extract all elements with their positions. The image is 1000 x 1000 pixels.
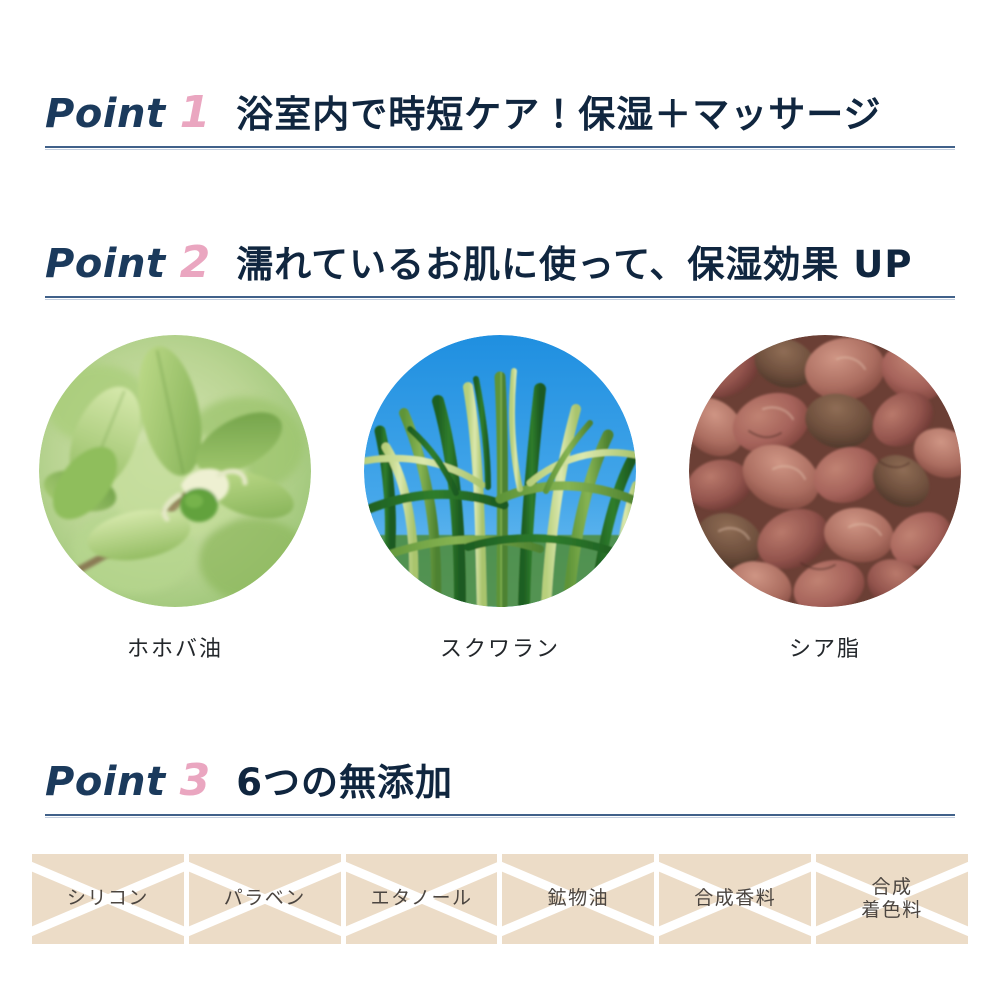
free-from-label-mineral-oil: 鉱物油 xyxy=(548,887,610,910)
ingredient-item-jojoba: ホホバ油 xyxy=(30,335,320,663)
point-text-3: 6つの無添加 xyxy=(236,752,453,806)
free-from-tile-synthetic-fragrance: 合成香料 xyxy=(659,854,811,944)
point-text-2: 濡れているお肌に使って、保湿効果 UP xyxy=(236,234,912,288)
point-divider-1 xyxy=(45,146,955,150)
point-label-2: Point xyxy=(45,241,166,287)
point-block-2: Point 2 濡れているお肌に使って、保湿効果 UP xyxy=(45,234,955,300)
point-heading-3: Point 3 6つの無添加 xyxy=(45,752,955,808)
point-block-3: Point 3 6つの無添加 xyxy=(45,752,955,818)
free-from-tile-silicone: シリコン xyxy=(32,854,184,944)
ingredient-label-shea: シア脂 xyxy=(789,631,861,663)
ingredient-item-shea: シア脂 xyxy=(680,335,970,663)
point-heading-2: Point 2 濡れているお肌に使って、保湿効果 UP xyxy=(45,234,955,290)
sugarcane-field-photo xyxy=(364,335,636,607)
free-from-label-ethanol: エタノール xyxy=(371,887,473,910)
point-number-3: 3 xyxy=(180,755,211,806)
free-from-tile-ethanol: エタノール xyxy=(346,854,498,944)
free-from-label-silicone: シリコン xyxy=(67,887,149,910)
ingredient-item-squalane: スクワラン xyxy=(355,335,645,663)
point-divider-2 xyxy=(45,296,955,300)
point-heading-1: Point 1 浴室内で時短ケア！保湿＋マッサージ xyxy=(45,84,955,140)
point-text-1: 浴室内で時短ケア！保湿＋マッサージ xyxy=(236,84,881,138)
free-from-tile-synthetic-colorant: 合成 着色料 xyxy=(816,854,968,944)
point-block-1: Point 1 浴室内で時短ケア！保湿＋マッサージ xyxy=(45,84,955,150)
ingredient-gallery: ホホバ油 xyxy=(30,335,970,663)
point-label-1: Point xyxy=(45,91,166,137)
free-from-label-synthetic-colorant: 合成 着色料 xyxy=(861,876,923,922)
point-number-1: 1 xyxy=(180,87,211,138)
free-from-label-synthetic-fragrance: 合成香料 xyxy=(694,887,776,910)
free-from-tile-paraben: パラベン xyxy=(189,854,341,944)
free-from-label-paraben: パラベン xyxy=(224,887,306,910)
ingredient-label-squalane: スクワラン xyxy=(440,631,560,663)
product-points-page: Point 1 浴室内で時短ケア！保湿＋マッサージ Point 2 濡れているお… xyxy=(0,0,1000,1000)
shea-nuts-photo xyxy=(689,335,961,607)
ingredient-label-jojoba: ホホバ油 xyxy=(127,631,223,663)
point-divider-3 xyxy=(45,814,955,818)
point-label-3: Point xyxy=(45,759,166,805)
free-from-ribbon: シリコン パラベン エタノール 鉱物油 合成香料 合成 着色料 xyxy=(32,854,968,944)
point-number-2: 2 xyxy=(180,237,211,288)
free-from-tile-mineral-oil: 鉱物油 xyxy=(502,854,654,944)
jojoba-plant-photo xyxy=(39,335,311,607)
